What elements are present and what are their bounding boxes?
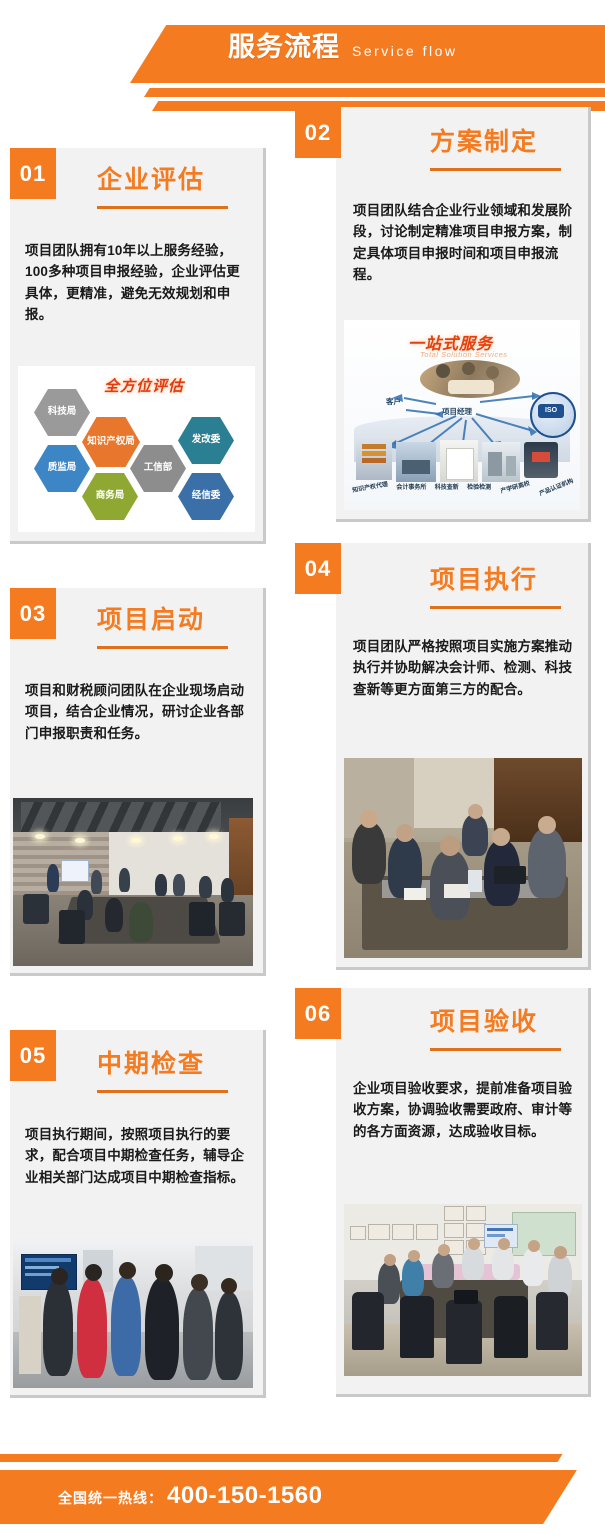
card-02-title: 方案制定 [430, 130, 538, 155]
card-01-title: 企业评估 [97, 168, 205, 193]
hex-node-keji: 科技局 [34, 388, 90, 437]
card-05-photo [13, 1236, 253, 1388]
service-flow-page: 服务流程 Service flow 01 企业评估 项目团队拥有10年以上服务经… [0, 0, 605, 1538]
card-04-title-rule [430, 606, 561, 609]
card-04-title: 项目执行 [430, 568, 538, 593]
card-02-body: 项目团队结合企业行业领域和发展阶段，讨论制定精准项目申报方案，制定具体项目申报时… [353, 200, 575, 285]
card-06-photo [344, 1204, 582, 1376]
card-03-badge: 03 [10, 588, 56, 639]
card-03-photo [13, 798, 253, 966]
page-footer: 全国统一热线： 400-150-1560 [0, 1412, 605, 1538]
card-02-infographic: 一站式服务 Total Solution Services 客户 项目经理 [344, 320, 580, 510]
page-header: 服务流程 Service flow [0, 0, 605, 118]
card-04-badge: 04 [295, 543, 341, 594]
card-02-title-rule [430, 168, 561, 171]
card-06-body: 企业项目验收要求，提前准备项目验收方案，协调验收需要政府、审计等的各方面资源，达… [353, 1078, 575, 1142]
card-05-title: 中期检查 [97, 1052, 205, 1077]
page-subtitle: Service flow [352, 44, 457, 58]
card-03-title: 项目启动 [97, 608, 205, 633]
card-03-body: 项目和财税顾问团队在企业现场启动项目，结合企业情况，研讨企业各部门申报职责和任务… [25, 680, 247, 744]
photo-whiteboard [61, 860, 89, 882]
footer-hotline-number[interactable]: 400-150-1560 [167, 1482, 322, 1510]
card-06-title: 项目验收 [430, 1010, 538, 1035]
hex-node-gongxin: 工信部 [130, 444, 186, 493]
footer-accent-line [0, 1454, 562, 1462]
card-02-badge: 02 [295, 107, 341, 158]
card-06-badge: 06 [295, 988, 341, 1039]
card-06-title-rule [430, 1048, 561, 1051]
service-label-2: 科技查新 [435, 482, 459, 491]
hex-node-fagai: 发改委 [178, 416, 234, 465]
card-04-photo [344, 758, 582, 958]
footer-hotline-label: 全国统一热线： [58, 1488, 163, 1508]
iso-badge-text: ISO [538, 404, 564, 418]
service-label-3: 检验检测 [467, 482, 491, 491]
card-04-body: 项目团队严格按照项目实施方案推动执行并协助解决会计师、检测、科技查新等更方面第三… [353, 636, 575, 700]
footer-hotline: 全国统一热线： 400-150-1560 [58, 1482, 322, 1510]
service-label-1: 会计事务所 [396, 482, 426, 491]
card-01-title-rule [97, 206, 228, 209]
hex-node-zscq: 知识产权局 [82, 416, 140, 468]
hex-node-shangwu: 商务局 [82, 472, 138, 521]
header-title-group: 服务流程 Service flow [228, 34, 457, 61]
card-05-badge: 05 [10, 1030, 56, 1081]
card-01-badge: 01 [10, 148, 56, 199]
infographic-title: 全方位评估 [104, 375, 184, 396]
card-01-body: 项目团队拥有10年以上服务经验，100多种项目申报经验，企业评估更具体，更精准，… [25, 240, 247, 325]
card-01-infographic: 全方位评估 科技局 知识产权局 质监局 商务局 工信部 发改委 经信委 [18, 366, 255, 532]
header-band-thin [144, 88, 605, 97]
card-05-title-rule [97, 1090, 228, 1093]
hex-node-zhijian: 质监局 [34, 444, 90, 493]
hex-node-jingxin: 经信委 [178, 472, 234, 521]
page-title: 服务流程 [228, 34, 340, 61]
card-03-title-rule [97, 646, 228, 649]
infographic2-service-labels: 知识产权代理 会计事务所 科技查新 检验检测 产学研高校 产品认证机构 [352, 482, 574, 491]
card-05-body: 项目执行期间，按照项目执行的要求，配合项目中期检查任务，辅导企业相关部门达成项目… [25, 1124, 247, 1188]
